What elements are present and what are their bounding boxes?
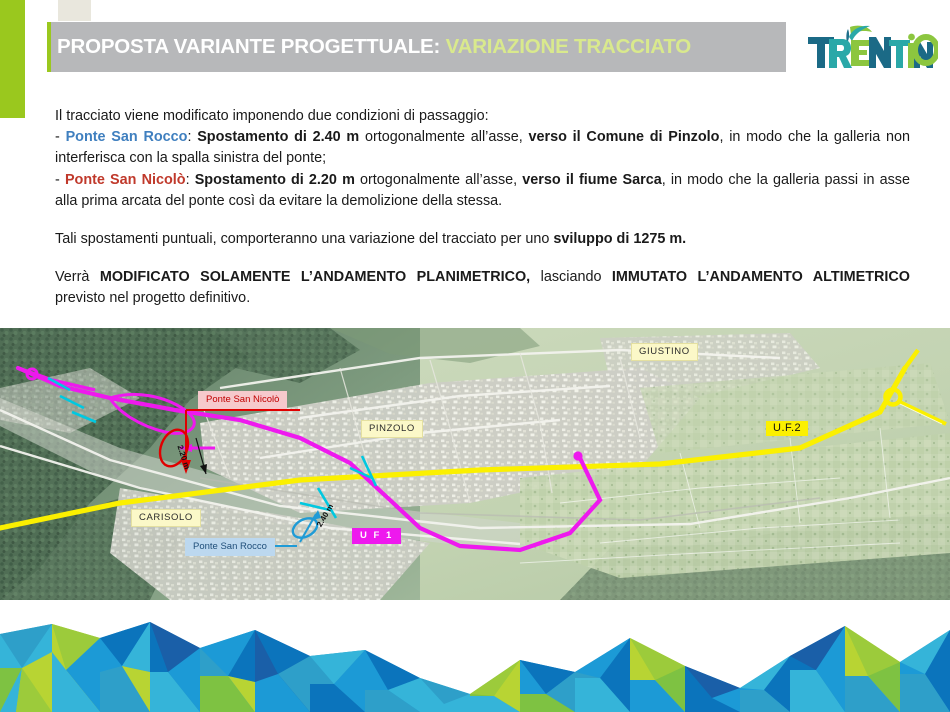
map-place-label-giustino: GIUSTINO bbox=[631, 343, 698, 361]
paragraph-spacer-2 bbox=[55, 250, 910, 267]
body-text-block: Il tracciato viene modificato imponendo … bbox=[55, 106, 910, 309]
dash-2: - bbox=[55, 172, 65, 188]
trentino-logo-icon bbox=[806, 23, 938, 73]
trentino-logo bbox=[806, 23, 938, 73]
left-green-accent-bar bbox=[0, 0, 25, 118]
footer-band-graphic bbox=[0, 612, 950, 712]
bold-spostamento-240: Spostamento di 2.40 m bbox=[197, 129, 359, 145]
map-section-label-uf1: U F 1 bbox=[352, 528, 401, 544]
body-paragraph-rocco: - Ponte San Rocco: Spostamento di 2.40 m… bbox=[55, 127, 910, 169]
map-place-label-pinzolo: PINZOLO bbox=[361, 420, 423, 438]
mid-text-3: ortogonalmente all’asse, bbox=[355, 172, 522, 188]
paragraph-spacer-1 bbox=[55, 212, 910, 229]
beige-tab-decoration bbox=[58, 0, 91, 21]
body-line-intro: Il tracciato viene modificato imponendo … bbox=[55, 106, 910, 127]
aerial-map-figure: CARISOLO PINZOLO GIUSTINO U F 1 U.F.2 Po… bbox=[0, 328, 950, 600]
bold-verso-pinzolo: verso il Comune di Pinzolo bbox=[529, 129, 720, 145]
slide-root: PROPOSTA VARIANTE PROGETTUALE: VARIAZION… bbox=[0, 0, 950, 712]
page-title-highlight: VARIAZIONE TRACCIATO bbox=[446, 35, 691, 58]
dash-1: - bbox=[55, 129, 66, 145]
bold-modificato-planimetrico: MODIFICATO SOLAMENTE L’ANDAMENTO PLANIME… bbox=[100, 269, 530, 285]
plain-text-sviluppo: Tali spostamenti puntuali, comporteranno… bbox=[55, 231, 553, 247]
map-callout-ponte-san-rocco: Ponte San Rocco bbox=[185, 538, 275, 556]
map-svg bbox=[0, 328, 950, 600]
colon-2: : bbox=[186, 172, 195, 188]
map-callout-ponte-san-nicolo: Ponte San Nicolò bbox=[198, 391, 287, 409]
body-paragraph-nicolo: - Ponte San Nicolò: Spostamento di 2.20 … bbox=[55, 170, 910, 212]
title-bar-green-edge bbox=[47, 22, 51, 72]
bold-sviluppo-1275: sviluppo di 1275 m. bbox=[553, 231, 686, 247]
map-place-label-carisolo: CARISOLO bbox=[131, 509, 201, 527]
body-paragraph-planimetrico: Verrà MODIFICATO SOLAMENTE L’ANDAMENTO P… bbox=[55, 267, 910, 309]
plain-verra: Verrà bbox=[55, 269, 100, 285]
page-title-main: PROPOSTA VARIANTE PROGETTUALE: bbox=[57, 35, 440, 58]
link-ponte-san-rocco: Ponte San Rocco bbox=[66, 129, 188, 145]
mid-text-1: ortogonalmente all’asse, bbox=[359, 129, 528, 145]
map-section-label-uf2: U.F.2 bbox=[766, 421, 808, 436]
colon-1: : bbox=[187, 129, 197, 145]
bold-immutato-altimetrico: IMMUTATO L’ANDAMENTO ALTIMETRICO bbox=[612, 269, 910, 285]
bold-spostamento-220: Spostamento di 2.20 m bbox=[195, 172, 355, 188]
footer-polygon-band bbox=[0, 612, 950, 712]
link-ponte-san-nicolo: Ponte San Nicolò bbox=[65, 172, 186, 188]
page-title: PROPOSTA VARIANTE PROGETTUALE: VARIAZION… bbox=[57, 35, 691, 59]
plain-previsto: previsto nel progetto definitivo. bbox=[55, 290, 250, 306]
header-title-bar: PROPOSTA VARIANTE PROGETTUALE: VARIAZION… bbox=[47, 22, 786, 72]
plain-lasciando: lasciando bbox=[530, 269, 612, 285]
body-paragraph-sviluppo: Tali spostamenti puntuali, comporteranno… bbox=[55, 229, 910, 250]
bold-verso-sarca: verso il fiume Sarca bbox=[522, 172, 661, 188]
